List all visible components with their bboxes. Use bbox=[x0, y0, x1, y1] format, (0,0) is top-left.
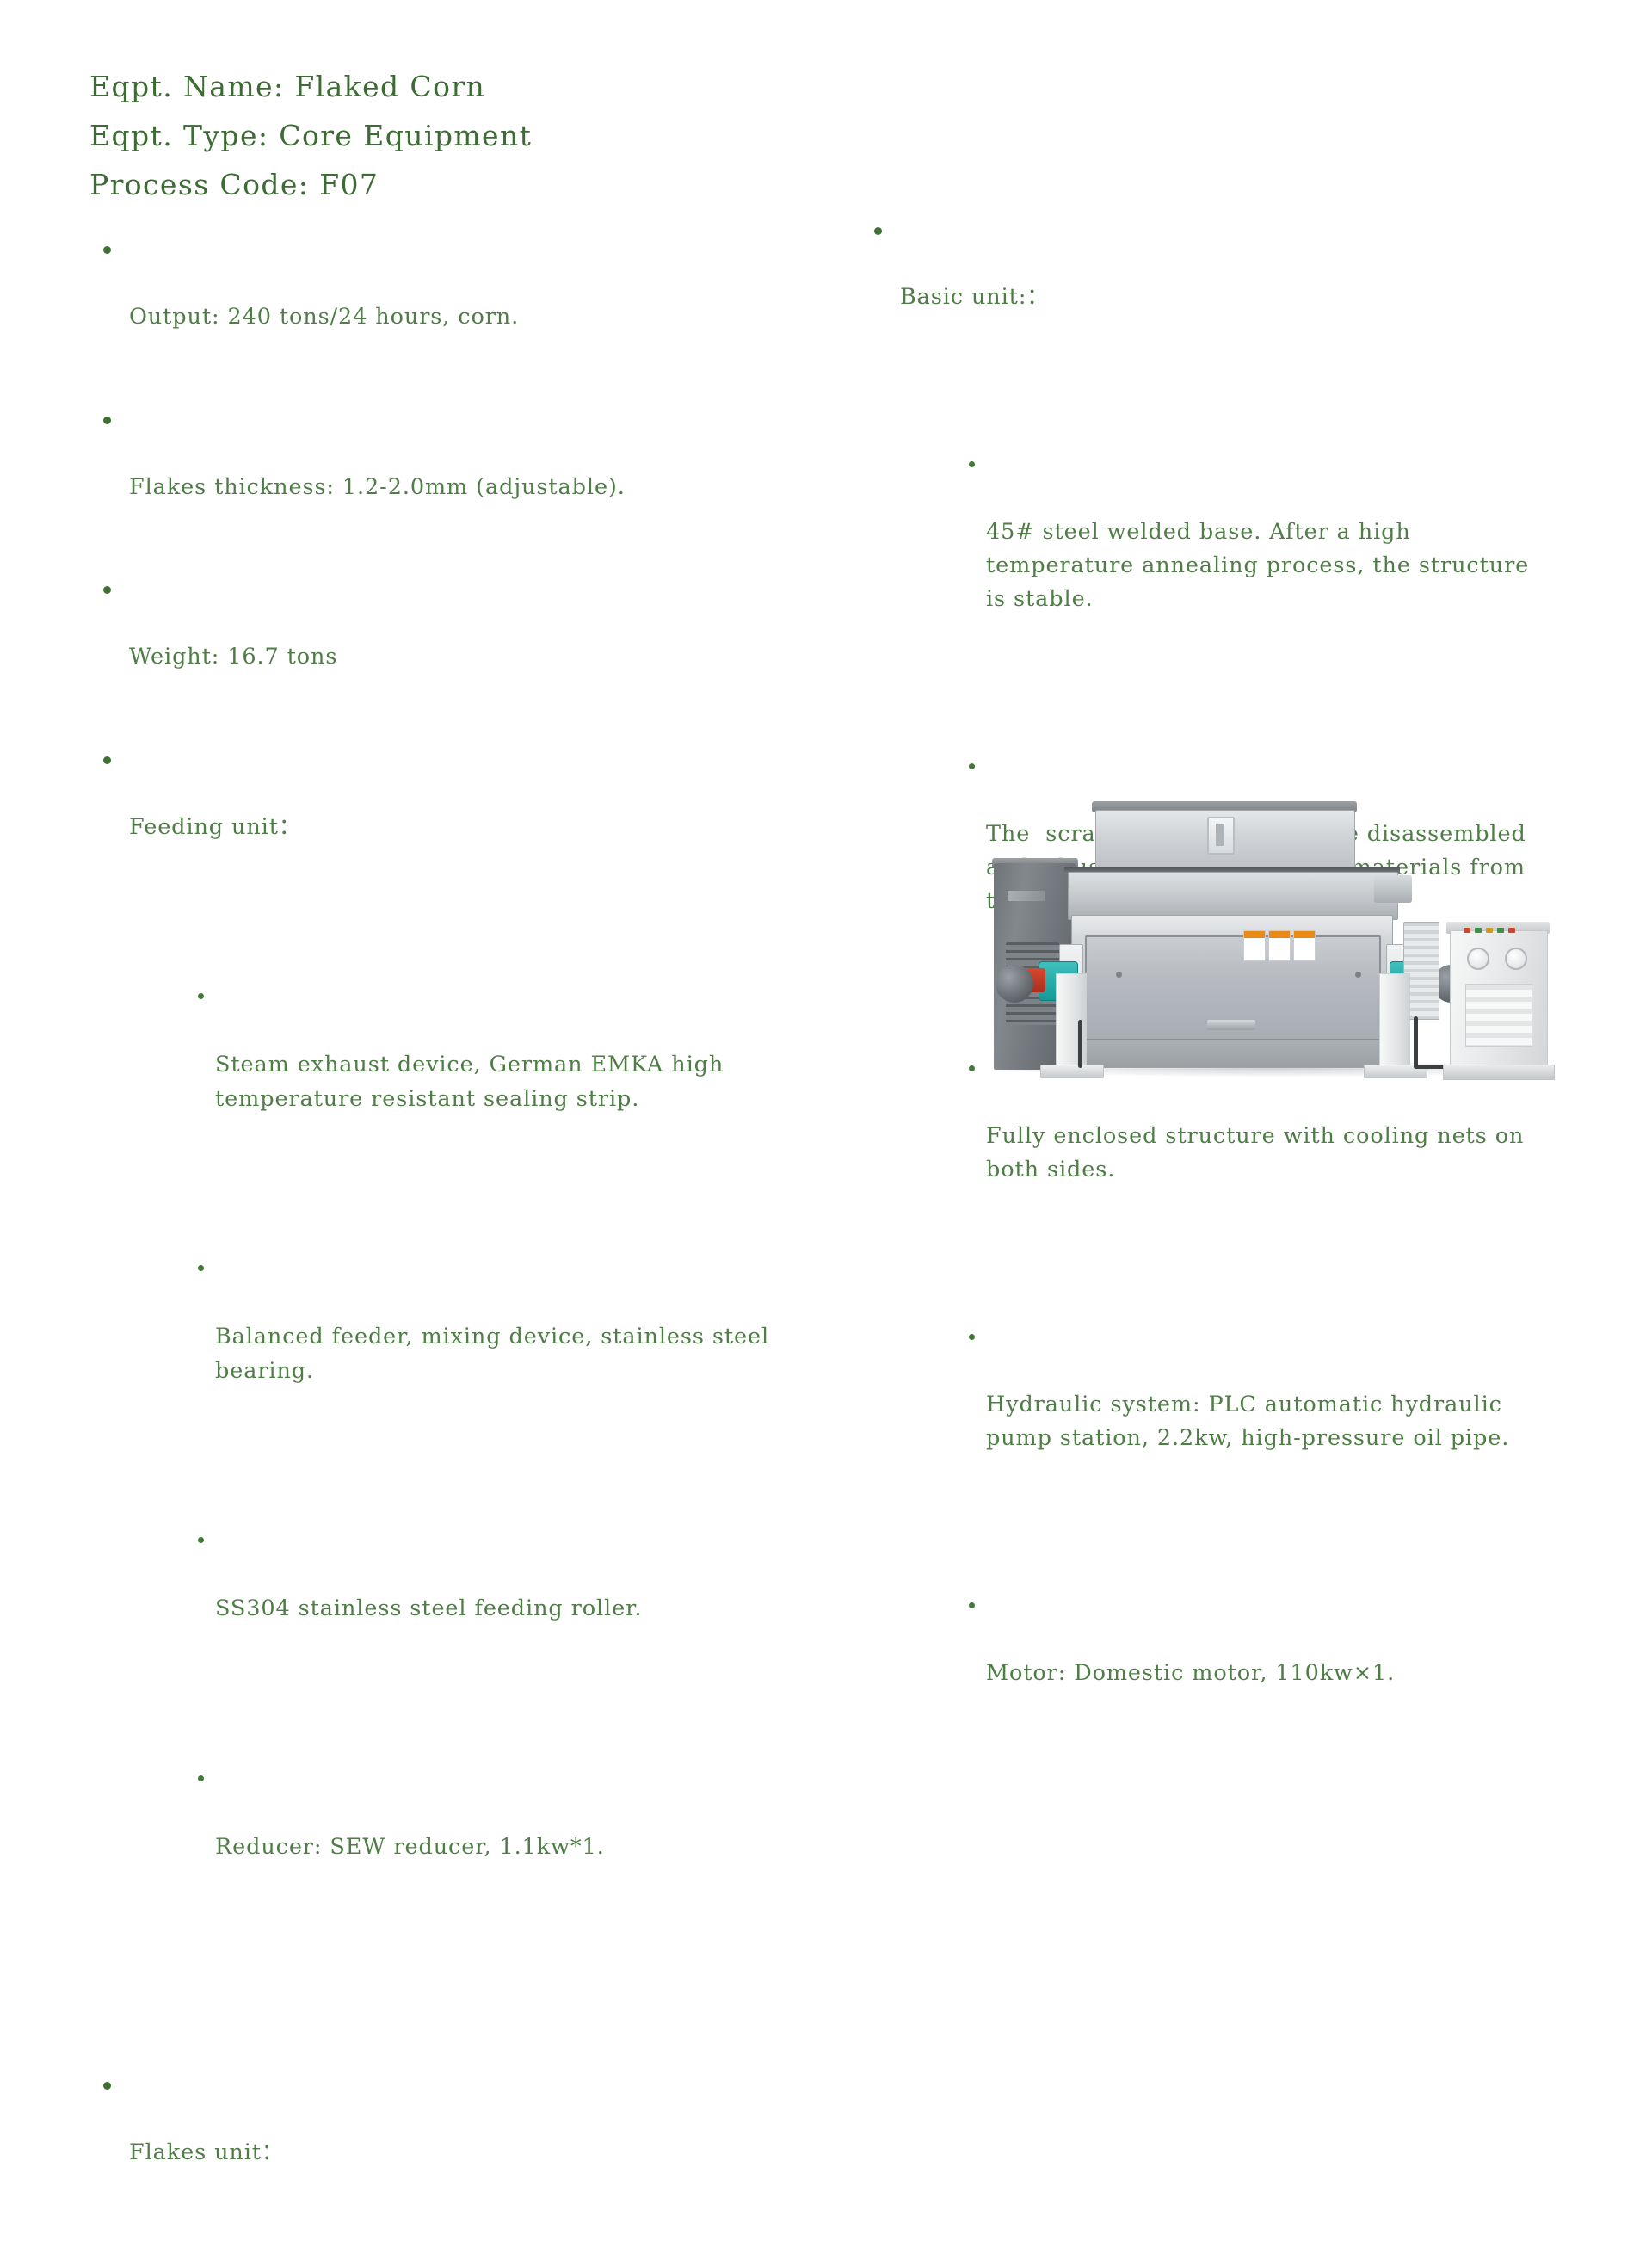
slide-page: Eqpt. Name: Flaked Corn Eqpt. Type: Core… bbox=[0, 0, 1652, 1120]
base-plate-left bbox=[1040, 1065, 1104, 1078]
list-item-text: Balanced feeder, mixing device, stainles… bbox=[215, 1320, 864, 1388]
gauge-right bbox=[1505, 948, 1527, 970]
flakes-unit-sublist: Hydraulic tightening roller adopts squar… bbox=[129, 2238, 864, 2241]
left-roller-drum bbox=[996, 965, 1033, 1003]
control-cabinet-base bbox=[1443, 1065, 1555, 1080]
list-item-flakes-unit: Flakes unit： Hydraulic tightening roller… bbox=[89, 2068, 864, 2241]
list-item-text: Flakes unit： bbox=[129, 2136, 864, 2170]
list-item: Balanced feeder, mixing device, stainles… bbox=[186, 1252, 864, 1456]
warning-labels bbox=[1243, 930, 1316, 960]
list-item: Flakes thickness: 1.2-2.0mm (adjustable)… bbox=[89, 403, 864, 573]
panel-screw-left bbox=[1116, 972, 1122, 978]
warning-label-1 bbox=[1243, 930, 1266, 961]
led-green-2 bbox=[1497, 928, 1504, 933]
left-bullet-list: Output: 240 tons/24 hours, corn. Flakes … bbox=[89, 232, 864, 2241]
led-green bbox=[1475, 928, 1482, 933]
equipment-type-line: Eqpt. Type: Core Equipment bbox=[89, 111, 532, 160]
left-spec-column: Output: 240 tons/24 hours, corn. Flakes … bbox=[89, 232, 864, 2241]
list-item-text: Weight: 16.7 tons bbox=[129, 640, 864, 675]
list-item-text: Flakes thickness: 1.2-2.0mm (adjustable)… bbox=[129, 471, 864, 505]
process-code-line: Process Code: F07 bbox=[89, 160, 532, 209]
panel-handle bbox=[1207, 1020, 1255, 1030]
warning-label-3 bbox=[1293, 930, 1316, 961]
list-item: SS304 stainless steel feeding roller. bbox=[186, 1524, 864, 1695]
list-item: 45# steel welded base. After a high temp… bbox=[957, 448, 1549, 683]
list-item: Hydraulic system: PLC automatic hydrauli… bbox=[957, 1321, 1549, 1522]
equipment-name-line: Eqpt. Name: Flaked Corn bbox=[89, 62, 532, 111]
header-block: Eqpt. Name: Flaked Corn Eqpt. Type: Core… bbox=[89, 62, 532, 209]
list-item-text: Fully enclosed structure with cooling ne… bbox=[986, 1120, 1549, 1187]
indicator-lamps bbox=[1464, 927, 1531, 934]
cabinet-badge bbox=[1008, 891, 1045, 901]
top-motor-box bbox=[1374, 875, 1412, 903]
control-panel-grille bbox=[1465, 984, 1532, 1047]
list-item-text: SS304 stainless steel feeding roller. bbox=[215, 1592, 864, 1627]
cable-left bbox=[1078, 1020, 1082, 1068]
support-leg-right bbox=[1379, 973, 1410, 1073]
cable-right bbox=[1414, 1016, 1418, 1068]
list-item-text: Output: 240 tons/24 hours, corn. bbox=[129, 300, 864, 335]
list-item-text: Feeding unit： bbox=[129, 811, 864, 845]
led-red-2 bbox=[1508, 928, 1515, 933]
list-item: Weight: 16.7 tons bbox=[89, 572, 864, 743]
list-item-text: Hydraulic system: PLC automatic hydrauli… bbox=[986, 1388, 1549, 1455]
gauge-left bbox=[1467, 948, 1489, 970]
list-item: Output: 240 tons/24 hours, corn. bbox=[89, 232, 864, 403]
led-yellow bbox=[1486, 928, 1493, 933]
viewing-window bbox=[1207, 817, 1235, 855]
feeding-unit-sublist: Steam exhaust device, German EMKA high t… bbox=[129, 912, 864, 2000]
list-item-text: Basic unit:： bbox=[900, 281, 1549, 314]
stainless-band bbox=[1068, 872, 1398, 920]
panel-screw-right bbox=[1355, 972, 1361, 978]
list-item-text: Reducer: SEW reducer, 1.1kw*1. bbox=[215, 1830, 864, 1865]
led-red bbox=[1464, 928, 1470, 933]
list-item: Reducer: SEW reducer, 1.1kw*1. bbox=[186, 1763, 864, 1933]
warning-label-2 bbox=[1268, 930, 1291, 961]
list-item-feeding-unit: Feeding unit： Steam exhaust device, Germ… bbox=[89, 743, 864, 2069]
list-item-text: 45# steel welded base. After a high temp… bbox=[986, 515, 1549, 616]
list-item: Steam exhaust device, German EMKA high t… bbox=[186, 980, 864, 1184]
list-item-text: Motor: Domestic motor, 110kw×1. bbox=[986, 1657, 1549, 1690]
list-item-text: Steam exhaust device, German EMKA high t… bbox=[215, 1048, 864, 1116]
basic-unit-sublist: 45# steel welded base. After a high temp… bbox=[900, 381, 1549, 1824]
machine-photo bbox=[985, 762, 1553, 1089]
list-item: Motor: Domestic motor, 110kw×1. bbox=[957, 1590, 1549, 1757]
